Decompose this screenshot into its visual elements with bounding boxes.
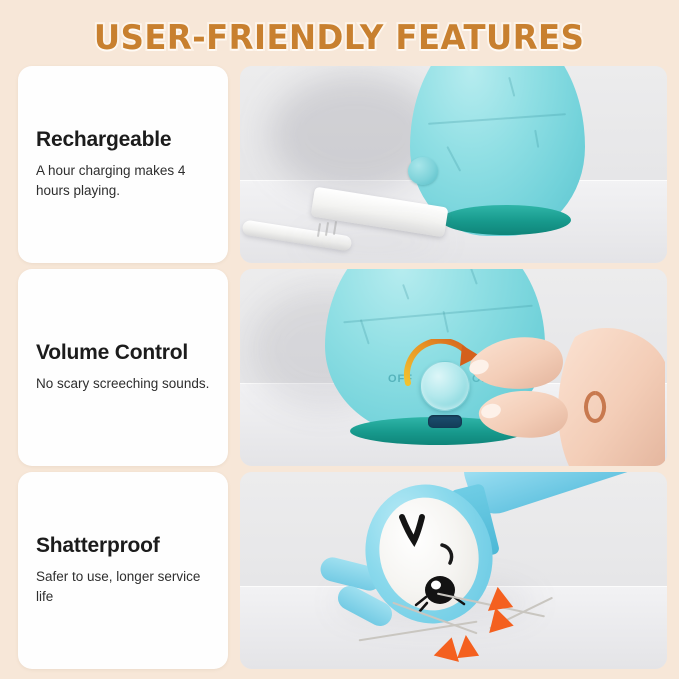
- hand-illustration: [455, 277, 665, 466]
- feature-infographic-page: USER-FRIENDLY FEATURES Rechargeable A ho…: [0, 0, 679, 679]
- feature-image-volume-control: OFF ON: [240, 269, 667, 466]
- feature-row-volume-control: Volume Control No scary screeching sound…: [0, 269, 679, 466]
- page-title-container: USER-FRIENDLY FEATURES: [0, 14, 679, 62]
- feature-image-shatterproof: [240, 472, 667, 669]
- feature-card-volume-control: Volume Control No scary screeching sound…: [18, 269, 228, 466]
- feature-body: Safer to use, longer service life: [36, 567, 210, 606]
- feature-image-rechargeable: [240, 66, 667, 263]
- impact-arrow-icon: [455, 634, 479, 658]
- toy-side-button: [408, 157, 438, 185]
- usb-shadow: [300, 234, 450, 250]
- feature-row-rechargeable: Rechargeable A hour charging makes 4 hou…: [0, 66, 679, 263]
- feature-row-shatterproof: Shatterproof Safer to use, longer servic…: [0, 472, 679, 669]
- feature-heading: Rechargeable: [36, 128, 210, 151]
- feature-heading: Volume Control: [36, 341, 210, 364]
- feature-card-rechargeable: Rechargeable A hour charging makes 4 hou…: [18, 66, 228, 263]
- toy-base-ring: [441, 205, 571, 235]
- feature-rows: Rechargeable A hour charging makes 4 hou…: [0, 66, 679, 669]
- feature-heading: Shatterproof: [36, 534, 210, 557]
- feature-body: No scary screeching sounds.: [36, 374, 210, 394]
- feature-body: A hour charging makes 4 hours playing.: [36, 161, 210, 200]
- page-title: USER-FRIENDLY FEATURES: [94, 18, 584, 58]
- feature-card-shatterproof: Shatterproof Safer to use, longer servic…: [18, 472, 228, 669]
